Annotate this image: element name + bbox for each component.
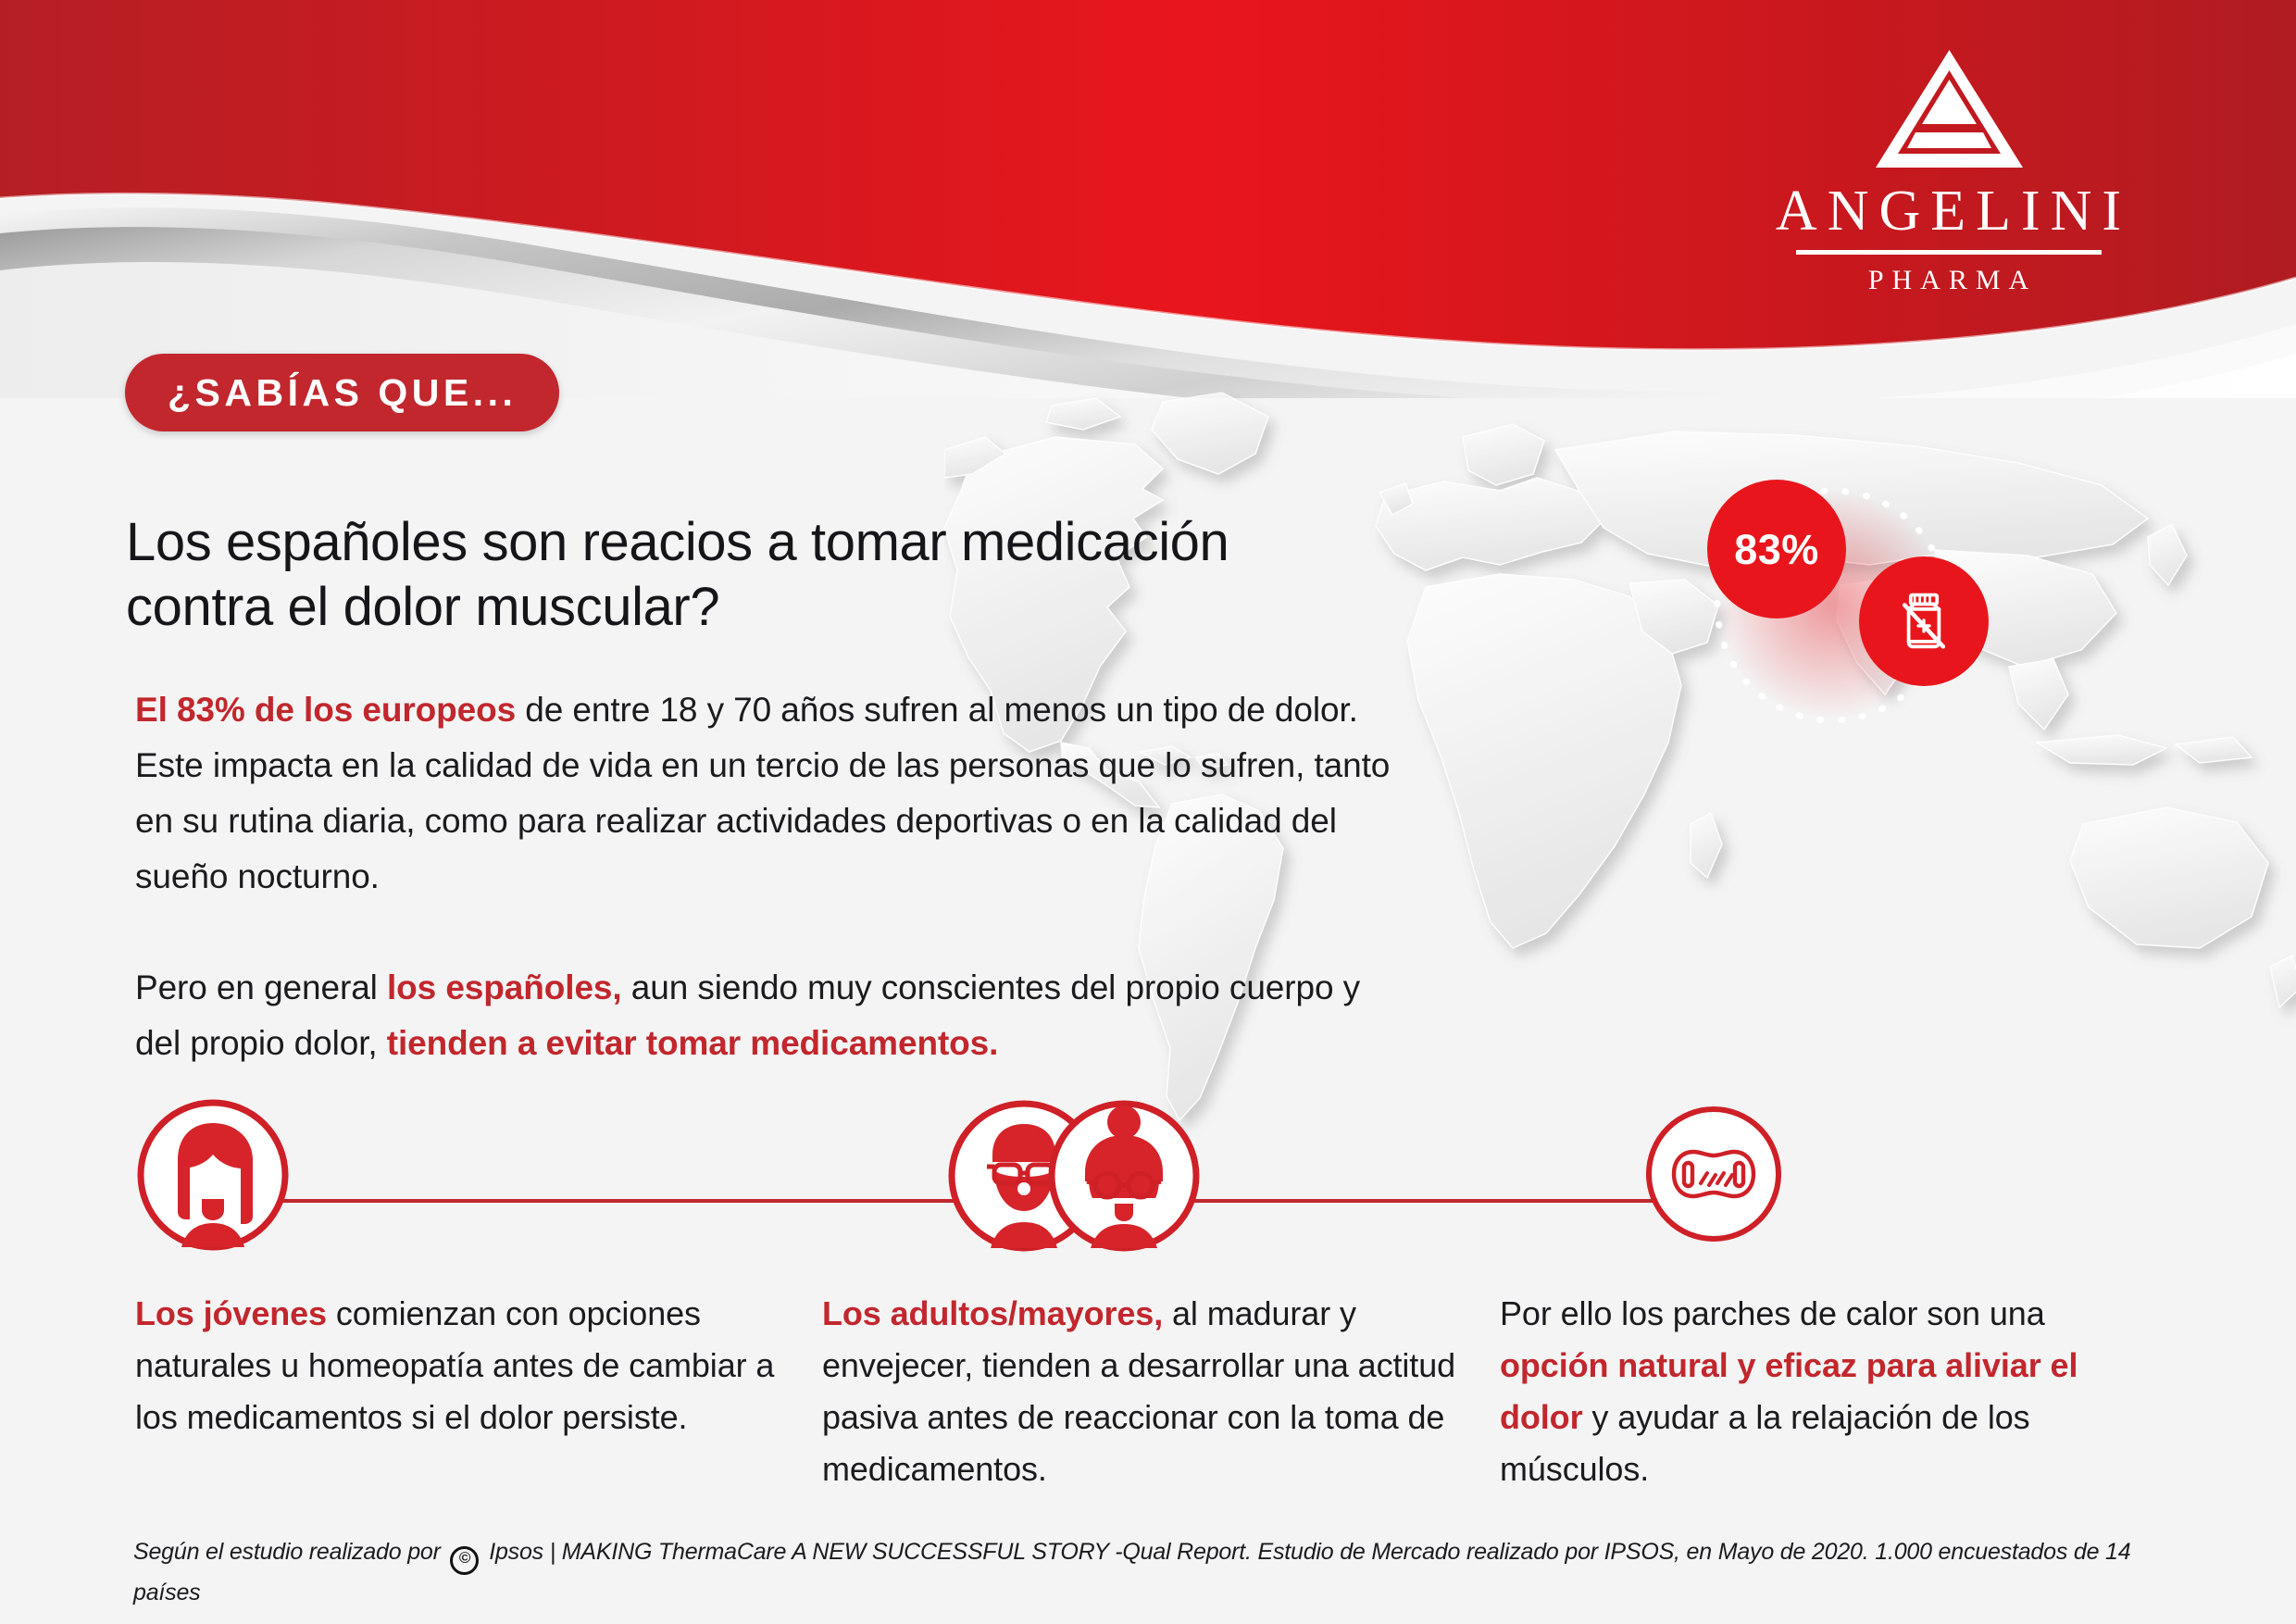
adults-couple-node [942, 1093, 1202, 1264]
logo-wordmark: ANGELINI [1764, 182, 2134, 240]
source-citation: Según el estudio realizado por © Ipsos |… [133, 1534, 2189, 1611]
intro-bold-lead: El 83% de los europeos [135, 691, 516, 729]
column-3-text: Por ello los parches de calor son una op… [1500, 1288, 2139, 1496]
secondary-bold-2: tienden a evitar tomar medicamentos. [387, 1024, 999, 1062]
no-pill-bottle-icon [1891, 589, 1956, 654]
column-2-text: Los adultos/mayores, al madurar y enveje… [822, 1288, 1470, 1496]
column-2-bold: Los adultos/mayores, [822, 1294, 1163, 1332]
page-title: Los españoles son reacios a tomar medica… [126, 510, 1478, 640]
citation-part-1: Según el estudio realizado por [133, 1539, 446, 1565]
column-1-text: Los jóvenes comienzan con opciones natur… [135, 1288, 783, 1443]
secondary-pre: Pero en general [135, 968, 387, 1006]
heat-patch-node [1643, 1104, 1784, 1249]
did-you-know-label: ¿SABÍAS QUE... [168, 374, 517, 412]
intro-paragraph: El 83% de los europeos de entre 18 y 70 … [135, 682, 1394, 905]
secondary-bold-1: los españoles, [387, 968, 622, 1006]
stat-percentage-value: 83% [1734, 529, 1819, 570]
did-you-know-badge: ¿SABÍAS QUE... [125, 354, 559, 431]
young-woman-node [135, 1097, 291, 1257]
headline-line-2: contra el dolor muscular? [126, 577, 719, 637]
stat-bubble-group: 83% [1666, 443, 2037, 748]
node-ring [1649, 1109, 1778, 1239]
copyright-icon: © [450, 1546, 479, 1575]
angelini-triangle-a-icon [1873, 46, 2026, 171]
column-1-bold: Los jóvenes [135, 1294, 327, 1332]
logo-subtitle: PHARMA [1764, 267, 2134, 294]
logo-divider [1796, 250, 2102, 255]
no-pill-bottle-bubble [1859, 556, 1989, 686]
secondary-paragraph: Pero en general los españoles, aun siend… [135, 960, 1394, 1071]
column-3-pre: Por ello los parches de calor son una [1500, 1294, 2045, 1332]
stat-percentage-bubble: 83% [1707, 480, 1846, 618]
angelini-logo: ANGELINI PHARMA [1764, 46, 2134, 278]
infographic-canvas: ANGELINI PHARMA [0, 0, 2296, 1624]
headline-line-1: Los españoles son reacios a tomar medica… [126, 512, 1229, 572]
